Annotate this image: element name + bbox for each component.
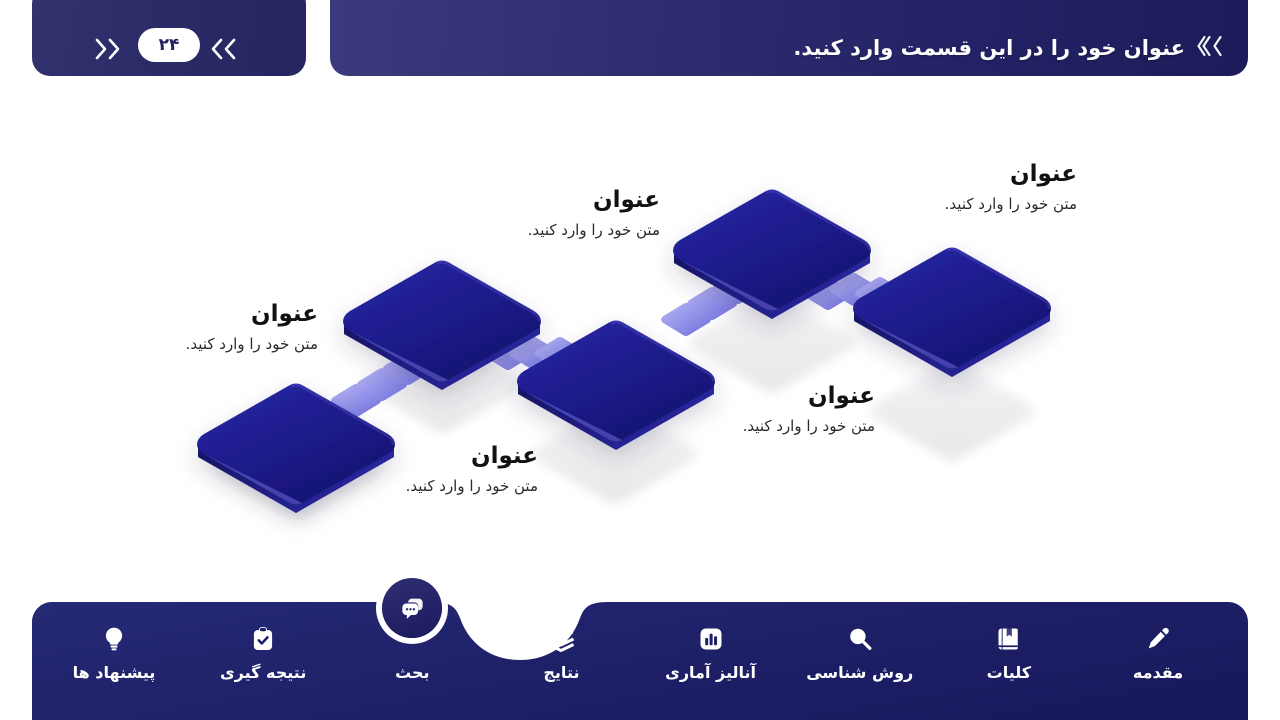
bottom-navigation-bar: مقدمه کلیات (32, 602, 1248, 720)
nav-item-moghadame[interactable]: مقدمه (1102, 624, 1214, 682)
nav-label-kolliyat: کلیات (987, 663, 1031, 682)
nav-label-natije-giri: نتیجه گیری (220, 663, 306, 682)
pencil-icon (1143, 624, 1173, 654)
node-label-3: عنوان متن خود را وارد کنید. (406, 442, 538, 497)
chat-bubble-icon (397, 593, 427, 623)
nav-label-bahs: بحث (395, 663, 429, 682)
slide-canvas: ۲۴ عنوان خود را در این قسمت وارد کنید. (0, 0, 1280, 720)
nav-item-natije-giri[interactable]: نتیجه گیری (207, 624, 319, 682)
nav-label-nataej: نتایج (543, 663, 579, 682)
nav-item-bahs[interactable]: بحث (356, 578, 468, 682)
node-label-4: عنوان متن خود را وارد کنید. (743, 382, 875, 437)
nav-label-moghadame: مقدمه (1133, 663, 1183, 682)
nav-label-ravesh-shenasi: روش شناسی (806, 663, 913, 682)
node-4-desc: متن خود را وارد کنید. (743, 415, 875, 438)
node-1-desc: متن خود را وارد کنید. (186, 333, 318, 356)
node-label-5: عنوان متن خود را وارد کنید. (945, 160, 1077, 215)
node-3-desc: متن خود را وارد کنید. (406, 475, 538, 498)
search-icon (845, 624, 875, 654)
nav-item-analiz-amari[interactable]: آنالیز آماری (655, 624, 767, 682)
node-1-title: عنوان (186, 300, 318, 329)
nav-item-nataej[interactable]: نتایج (505, 624, 617, 682)
node-label-2: عنوان متن خود را وارد کنید. (528, 186, 660, 241)
node-2-title: عنوان (528, 186, 660, 215)
nav-label-analiz-amari: آنالیز آماری (665, 663, 756, 682)
node-label-1: عنوان متن خود را وارد کنید. (186, 300, 318, 355)
nav-item-ravesh-shenasi[interactable]: روش شناسی (804, 624, 916, 682)
nav-items-row: مقدمه کلیات (32, 602, 1248, 720)
nav-item-kolliyat[interactable]: کلیات (953, 624, 1065, 682)
node-4-title: عنوان (743, 382, 875, 411)
bar-chart-icon (696, 624, 726, 654)
lightbulb-icon (99, 624, 129, 654)
node-5-title: عنوان (945, 160, 1077, 189)
node-2-desc: متن خود را وارد کنید. (528, 219, 660, 242)
book-icon (994, 624, 1024, 654)
clipboard-check-icon (248, 624, 278, 654)
nav-item-pishnahad-ha[interactable]: پیشنهاد ها (58, 624, 170, 682)
node-3-title: عنوان (406, 442, 538, 471)
nav-label-pishnahad-ha: پیشنهاد ها (73, 663, 156, 682)
active-nav-badge (382, 578, 442, 638)
node-5-desc: متن خود را وارد کنید. (945, 193, 1077, 216)
layers-icon (546, 624, 576, 654)
